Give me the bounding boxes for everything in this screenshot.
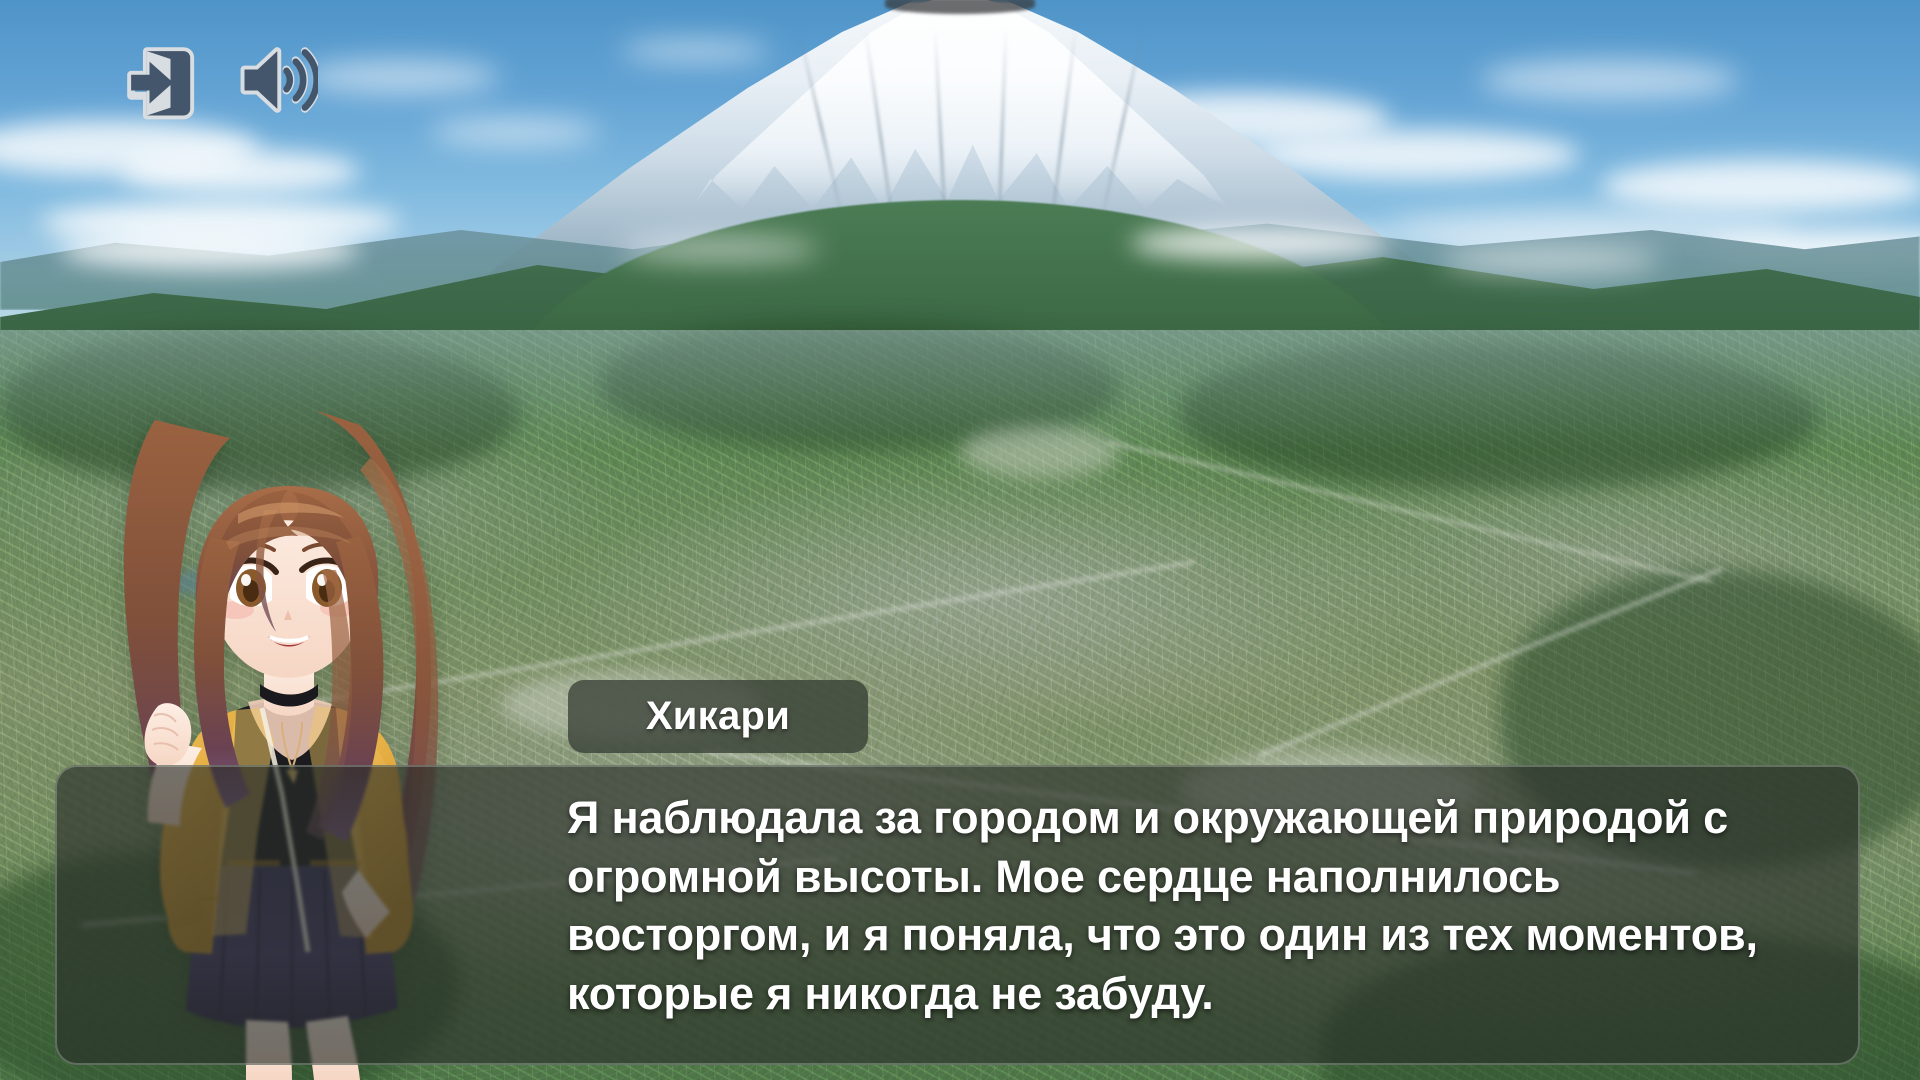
cloud (60, 230, 360, 270)
sound-icon[interactable] (234, 38, 318, 122)
speaker-name-box: Хикари (568, 680, 868, 753)
dialogue-text: Я наблюдала за городом и окружающей прир… (567, 789, 1812, 1023)
cloud (1440, 246, 1660, 274)
exit-icon[interactable] (118, 38, 202, 122)
cloud (1130, 226, 1390, 260)
cloud (620, 236, 820, 262)
dialogue-box[interactable]: Я наблюдала за городом и окружающей прир… (55, 765, 1860, 1065)
hud-icon-bar (118, 38, 318, 122)
visual-novel-scene[interactable]: Хикари Я наблюдала за городом и окружающ… (0, 0, 1920, 1080)
speaker-name: Хикари (646, 694, 790, 739)
